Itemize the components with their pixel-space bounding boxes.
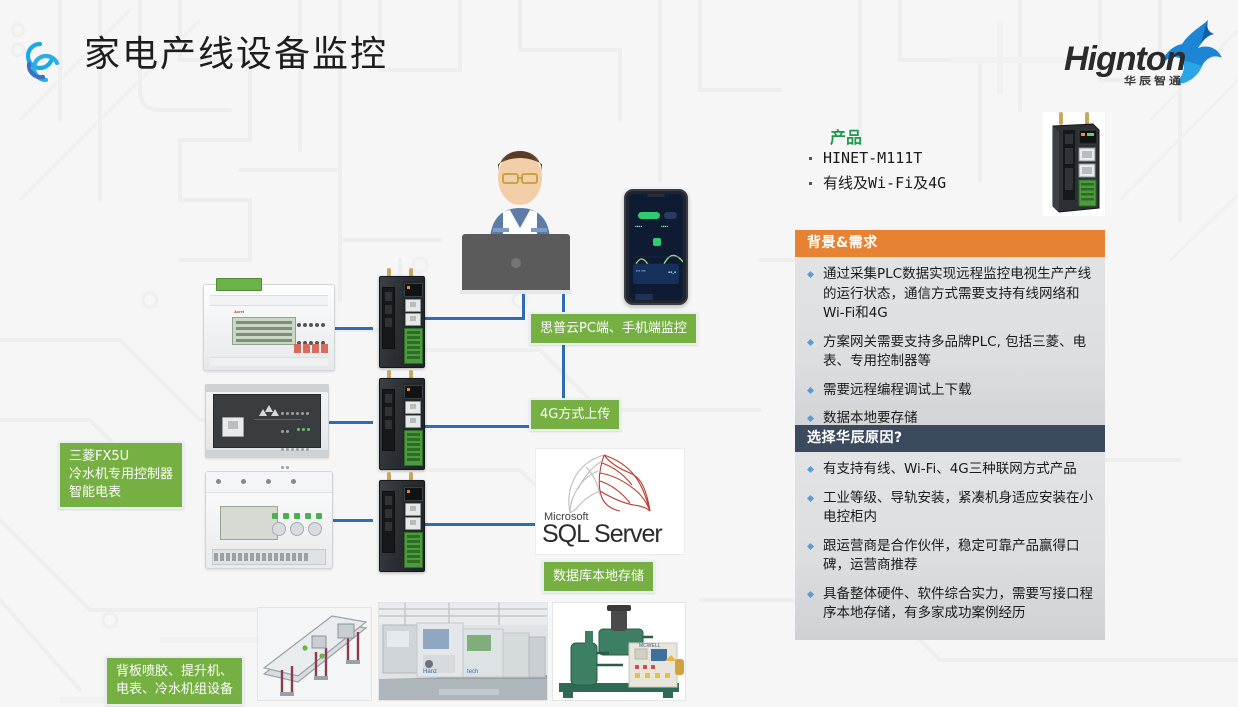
phone-metric-right: ▪▪▪▪ <box>661 224 668 230</box>
svg-text:MCWELL: MCWELL <box>639 643 661 649</box>
gateway-lan-port-2 <box>405 415 421 428</box>
callout-cloud-monitor: 思普云PC端、手机端监控 <box>529 312 698 345</box>
chiller-unit-photo: MCWELL <box>552 602 686 701</box>
panel-background-requirements: 背景&需求 通过采集PLC数据实现远程监控电视生产产线的运行状态，通信方式需要支… <box>795 230 1105 441</box>
panel-body-why-choose-hignton: 有支持有线、Wi-Fi、4G三种联网方式产品 工业等级、导轨安装，紧凑机身适应安… <box>795 452 1105 640</box>
requirement-item: 通过采集PLC数据实现远程监控电视生产产线的运行状态，通信方式需要支持有线网络和… <box>801 265 1095 324</box>
gateway-terminal-block <box>404 328 423 364</box>
link-meter-to-gateway1 <box>333 327 373 330</box>
requirement-item: 需要远程编程调试上下载 <box>801 381 1095 401</box>
gateway-case <box>379 276 425 368</box>
gateway-front-panel <box>403 383 422 465</box>
callout-db-local-storage: 数据库本地存储 <box>542 560 655 593</box>
plc-body <box>213 394 321 448</box>
link-gateway1-out <box>425 317 525 320</box>
gateway-case <box>379 480 425 572</box>
meter-brand-label: Acrel <box>234 309 244 314</box>
interlocking-circles-logo <box>14 34 70 90</box>
panel-why-choose-hignton: 选择华辰原因? 有支持有线、Wi-Fi、4G三种联网方式产品 工业等级、导轨安装… <box>795 425 1105 640</box>
controller-knobs <box>268 522 322 541</box>
laptop-base <box>460 290 572 294</box>
gateway-terminal-block <box>404 532 423 568</box>
slide-canvas: 家电产线设备监控 Hignton 华辰智通 Acrel <box>0 0 1238 707</box>
sql-product-label: SQL Server <box>542 521 662 547</box>
meter-indicator-leds <box>296 315 326 337</box>
gateway-front-panel <box>403 281 422 363</box>
meter-terminal-block <box>216 278 262 291</box>
product-section-title: 产品 <box>830 124 862 148</box>
link-ctrl-to-gateway3 <box>333 519 373 522</box>
gateway-lan-port-1 <box>405 299 421 312</box>
mitsubishi-diamond-icon <box>256 405 282 415</box>
panel-body-background-requirements: 通过采集PLC数据实现远程监控电视生产产线的运行状态，通信方式需要支持有线网络和… <box>795 257 1105 441</box>
gateway-terminal-block <box>404 430 423 466</box>
brand-logo: Hignton 华辰智通 <box>1056 14 1228 90</box>
phone-metric-left: ▪▪▪▪ <box>635 224 642 230</box>
gateway-lan-port-1 <box>405 401 421 414</box>
reason-item: 有支持有线、Wi-Fi、4G三种联网方式产品 <box>801 460 1095 480</box>
architecture-diagram: Acrel <box>0 96 800 707</box>
callout-4g-upload: 4G方式上传 <box>529 398 621 431</box>
plc-status-leds <box>296 419 314 437</box>
svg-text:tech: tech <box>467 669 478 675</box>
phone-toggle-off <box>664 212 677 219</box>
smt-production-line-photo: Hanztech <box>378 602 548 701</box>
chiller-controller <box>205 471 333 569</box>
panel-title-why-choose-hignton: 选择华辰原因? <box>795 425 1105 452</box>
laptop <box>462 234 570 294</box>
svg-text:Hanz: Hanz <box>423 669 437 675</box>
sql-server-database: Microsoft SQL Server <box>535 448 685 555</box>
phone-card-label: ▪▪▪ ▪▪▪ <box>636 268 646 273</box>
phone-action-buttons[interactable] <box>635 288 677 295</box>
hinet-gateway-3 <box>373 472 429 572</box>
plc-ethernet-port <box>222 417 244 437</box>
gateway-front-panel <box>403 485 422 567</box>
product-item: HINET-M111T <box>805 146 1020 171</box>
gateway-side-ports <box>382 287 395 349</box>
plc-output-leds <box>280 439 314 475</box>
controller-top-panel <box>206 472 332 493</box>
plc-top-rail <box>206 385 328 392</box>
controller-terminals <box>212 549 326 565</box>
hinet-gateway-1 <box>373 268 429 368</box>
phone-card-value: ▪▪.▪ <box>668 270 676 276</box>
gateway-display <box>404 385 423 399</box>
requirement-item: 方案网关需要支持多品牌PLC, 包括三菱、电表、专用控制器等 <box>801 333 1095 372</box>
phone-notch <box>647 194 665 197</box>
reason-item: 工业等级、导轨安装，紧凑机身适应安装在小电控柜内 <box>801 489 1095 528</box>
callout-line-equipment: 背板喷胶、提升机、 电表、冷水机组设备 <box>105 656 244 706</box>
hinet-gateway-2 <box>373 370 429 470</box>
gateway-lan-port-2 <box>405 517 421 530</box>
panel-title-background-requirements: 背景&需求 <box>795 230 1105 257</box>
product-spec-list: HINET-M111T 有线及Wi-Fi及4G <box>805 146 1020 196</box>
sql-server-swoosh-icon <box>564 453 656 515</box>
gateway-side-ports <box>382 491 395 553</box>
hinet-gateway-photo <box>1043 112 1105 216</box>
brand-chinese-name: 华辰智通 <box>1124 73 1184 87</box>
smart-energy-meter: Acrel <box>203 284 335 371</box>
meter-bottom-strip <box>210 357 328 366</box>
phone-status-indicator <box>653 238 661 246</box>
gateway-lan-port-1 <box>405 503 421 516</box>
phone-toggle-on <box>638 212 660 219</box>
conveyor-lift-cad-photo <box>257 607 372 701</box>
phone-screen: ▪▪▪▪ ▪▪▪▪ ▪▪▪ ▪▪▪ ▪▪.▪ <box>629 194 683 300</box>
gateway-case <box>379 378 425 470</box>
callout-field-devices: 三菱FX5U 冷水机专用控制器 智能电表 <box>58 441 184 509</box>
reason-item: 具备整体硬件、软件综合实力，需要写接口程序本地存储，有多家成功案例经历 <box>801 585 1095 624</box>
gateway-lan-port-2 <box>405 313 421 326</box>
gateway-display <box>404 487 423 501</box>
meter-lcd <box>232 317 296 345</box>
phone-summary-card: ▪▪▪ ▪▪▪ ▪▪.▪ <box>633 264 679 284</box>
gateway-side-ports <box>382 389 395 451</box>
mobile-dashboard-phone: ▪▪▪▪ ▪▪▪▪ ▪▪▪ ▪▪▪ ▪▪.▪ <box>624 189 688 305</box>
meter-buttons <box>292 340 328 358</box>
reason-item: 跟运营商是合作伙伴，稳定可靠产品赢得口碑，运营商推荐 <box>801 537 1095 576</box>
phone-status-bar <box>633 203 679 208</box>
slide-header: 家电产线设备监控 Hignton 华辰智通 <box>0 0 1238 100</box>
gateway-display <box>404 283 423 297</box>
link-plc-to-gateway2 <box>325 421 373 424</box>
meter-top-strip <box>210 295 328 306</box>
page-title: 家电产线设备监控 <box>84 32 388 78</box>
laptop-camera-dot <box>511 258 521 268</box>
product-item: 有线及Wi-Fi及4G <box>805 171 1020 196</box>
mitsubishi-fx5u-plc <box>205 384 329 458</box>
